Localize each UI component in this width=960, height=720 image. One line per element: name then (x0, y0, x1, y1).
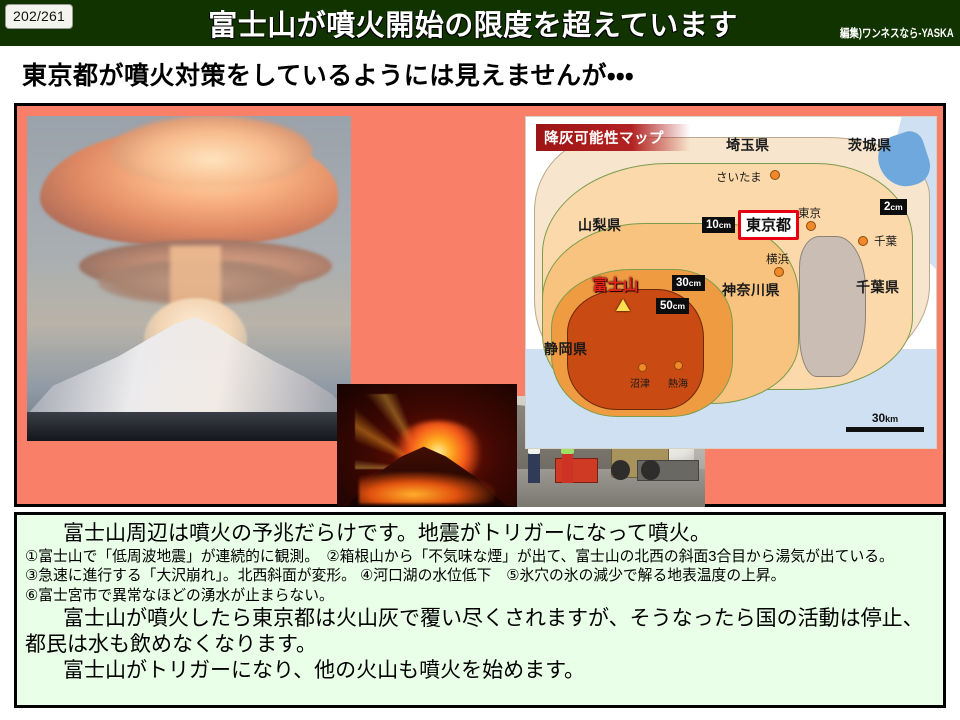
ash-tag-2cm: 2cm (880, 199, 907, 215)
ash-tag-unit: cm (689, 278, 701, 288)
city-dot-numazu (638, 363, 647, 372)
map-scale-value: 30 (872, 411, 885, 425)
editor-credit: 編集)ワンネスなら-YASKA (840, 25, 954, 41)
map-title: 降灰可能性マップ (536, 124, 690, 151)
media-panel: 降灰可能性マップ 埼玉県 茨城県 山梨県 神奈川県 千葉県 静岡県 さいたま 東… (14, 103, 946, 507)
body-signs-line-3: ⑥富士宮市で異常なほどの湧水が止まらない。 (25, 586, 921, 606)
city-label-atami: 熱海 (668, 375, 688, 390)
city-label-chiba: 千葉 (874, 233, 897, 249)
city-label-saitama: さいたま (716, 169, 762, 185)
lava-flow (359, 472, 496, 504)
pref-label-chiba: 千葉県 (856, 277, 900, 297)
page-title: 富士山が噴火開始の限度を超えています (0, 0, 960, 46)
ash-tag-unit: cm (673, 301, 685, 311)
lava-fountain-photo (337, 384, 517, 506)
pref-label-saitama: 埼玉県 (726, 135, 770, 155)
eruption-plume-photo (27, 116, 351, 441)
city-dot-tokyo (806, 221, 816, 231)
map-scale-label: 30km (846, 411, 924, 425)
city-dot-chiba (858, 236, 868, 246)
ash-tag-30cm: 30cm (672, 275, 705, 291)
city-dot-saitama (770, 170, 780, 180)
body-signs-line-2: ③急速に進行する「大沢崩れ」。北西斜面が変形。 ④河口湖の水位低下 ⑤氷穴の氷の… (25, 566, 921, 586)
map-scale-bar: 30km (846, 411, 924, 432)
city-label-yokohama: 横浜 (766, 251, 789, 267)
pref-label-yamanashi: 山梨県 (578, 215, 622, 235)
ash-tag-value: 30 (676, 277, 689, 289)
mount-fuji-triangle-icon (616, 299, 630, 311)
page-counter-badge: 202/261 (5, 4, 73, 29)
worker-figure (528, 454, 539, 483)
worker-figure (562, 454, 573, 483)
header-bar: 富士山が噴火開始の限度を超えています 202/261 編集)ワンネスなら-YAS… (0, 0, 960, 46)
tokyo-bay-area (799, 236, 867, 377)
body-paragraph-1: 富士山が噴火したら東京都は火山灰で覆い尽くされますが、そうなったら国の活動は停止… (25, 606, 935, 658)
city-label-numazu: 沼津 (630, 375, 650, 390)
pref-label-ibaraki: 茨城県 (848, 135, 892, 155)
mount-fuji-label: 富士山 (592, 273, 639, 295)
body-lead-line: 富士山周辺は噴火の予兆だらけです。地震がトリガーになって噴火。 (25, 521, 935, 547)
map-scale-line (846, 427, 924, 432)
body-paragraph-2: 富士山がトリガーになり、他の火山も噴火を始めます。 (25, 658, 935, 684)
map-scale-unit: km (885, 414, 898, 424)
subtitle: 東京都が噴火対策をしているようには見えませんが・・・ (22, 56, 634, 92)
photo-plume-crown (111, 116, 312, 188)
body-text-panel: 富士山周辺は噴火の予兆だらけです。地震がトリガーになって噴火。 ①富士山で「低周… (14, 512, 946, 708)
ash-tag-10cm: 10cm (702, 217, 735, 233)
city-label-tokyo: 東京 (798, 205, 821, 221)
photo-foreground (27, 412, 351, 441)
red-utility-vehicle (555, 458, 598, 482)
body-signs-line-1: ①富士山で「低周波地震」が連続的に観測。 ②箱根山から「不気味な煙」が出て、富士… (25, 547, 921, 567)
tokyo-metropolis-callout: 東京都 (738, 210, 799, 240)
ash-tag-value: 50 (660, 300, 673, 312)
ashfall-map: 降灰可能性マップ 埼玉県 茨城県 山梨県 神奈川県 千葉県 静岡県 さいたま 東… (525, 116, 937, 449)
ash-tag-unit: cm (719, 220, 731, 230)
pref-label-kanagawa: 神奈川県 (722, 280, 780, 300)
ash-tag-unit: cm (890, 202, 902, 212)
pref-label-shizuoka: 静岡県 (544, 339, 588, 359)
ash-tag-value: 10 (706, 219, 719, 231)
city-dot-atami (674, 361, 683, 370)
ash-tag-50cm: 50cm (656, 298, 689, 314)
city-dot-yokohama (774, 267, 784, 277)
